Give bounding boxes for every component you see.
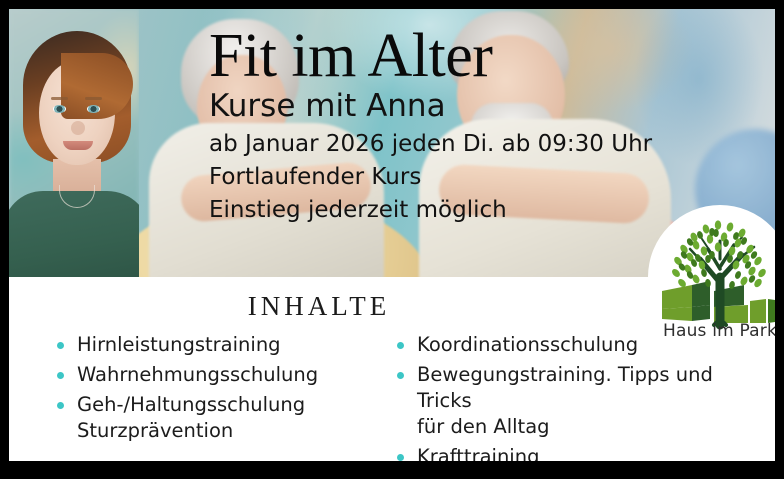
poster-title: Fit im Alter	[209, 27, 709, 86]
portrait-eye-right	[87, 105, 100, 113]
portrait-eyebrow-left	[51, 97, 68, 100]
portrait-mouth	[63, 141, 93, 150]
portrait-eyebrow-right	[85, 97, 102, 100]
portrait-nose	[71, 121, 85, 135]
content-list-right: Koordinationsschulung Bewegungstraining.…	[393, 332, 763, 461]
list-item: Hirnleistungstraining	[53, 332, 383, 358]
logo-caption: Haus im Park	[648, 321, 775, 341]
hero-text-block: Fit im Alter Kurse mit Anna ab Januar 20…	[209, 27, 709, 226]
list-item-line2: Sturzprävention	[77, 418, 383, 444]
list-item: Wahrnehmungsschulung	[53, 362, 383, 388]
list-item-line1: Krafttraining	[417, 445, 539, 461]
meta-line-course-type: Fortlaufender Kurs	[209, 161, 709, 194]
meta-line-schedule: ab Januar 2026 jeden Di. ab 09:30 Uhr	[209, 128, 709, 161]
list-item-line1: Wahrnehmungsschulung	[77, 363, 318, 386]
content-columns: Hirnleistungstraining Wahrnehmungsschulu…	[9, 332, 775, 461]
bullet-icon	[57, 402, 64, 409]
portrait-eye-left	[53, 105, 66, 113]
list-item-line1: Bewegungstraining. Tipps und Tricks	[417, 363, 713, 412]
list-item-line1: Geh-/Haltungsschulung	[77, 393, 305, 416]
list-item-line2: für den Alltag	[417, 414, 763, 440]
meta-line-entry: Einstieg jederzeit möglich	[209, 194, 709, 227]
haus-im-park-logo[interactable]: Haus im Park	[648, 205, 775, 349]
content-column-left: Hirnleistungstraining Wahrnehmungsschulu…	[53, 332, 383, 461]
bullet-icon	[57, 372, 64, 379]
poster-subtitle: Kurse mit Anna	[209, 90, 709, 123]
bullet-icon	[397, 342, 404, 349]
poster-canvas: Fit im Alter Kurse mit Anna ab Januar 20…	[9, 9, 775, 461]
list-item: Krafttraining	[393, 444, 763, 461]
instructor-portrait	[9, 9, 139, 277]
bullet-icon	[397, 454, 404, 461]
list-item: Bewegungstraining. Tipps und Tricks für …	[393, 362, 763, 440]
bullet-icon	[57, 342, 64, 349]
list-item-line1: Hirnleistungstraining	[77, 333, 281, 356]
bullet-icon	[397, 372, 404, 379]
content-heading: INHALTE	[9, 291, 629, 322]
poster-meta: ab Januar 2026 jeden Di. ab 09:30 Uhr Fo…	[209, 128, 709, 226]
content-column-right: Koordinationsschulung Bewegungstraining.…	[393, 332, 763, 461]
list-item-line1: Koordinationsschulung	[417, 333, 638, 356]
list-item: Geh-/Haltungsschulung Sturzprävention	[53, 392, 383, 444]
content-list-left: Hirnleistungstraining Wahrnehmungsschulu…	[53, 332, 383, 444]
